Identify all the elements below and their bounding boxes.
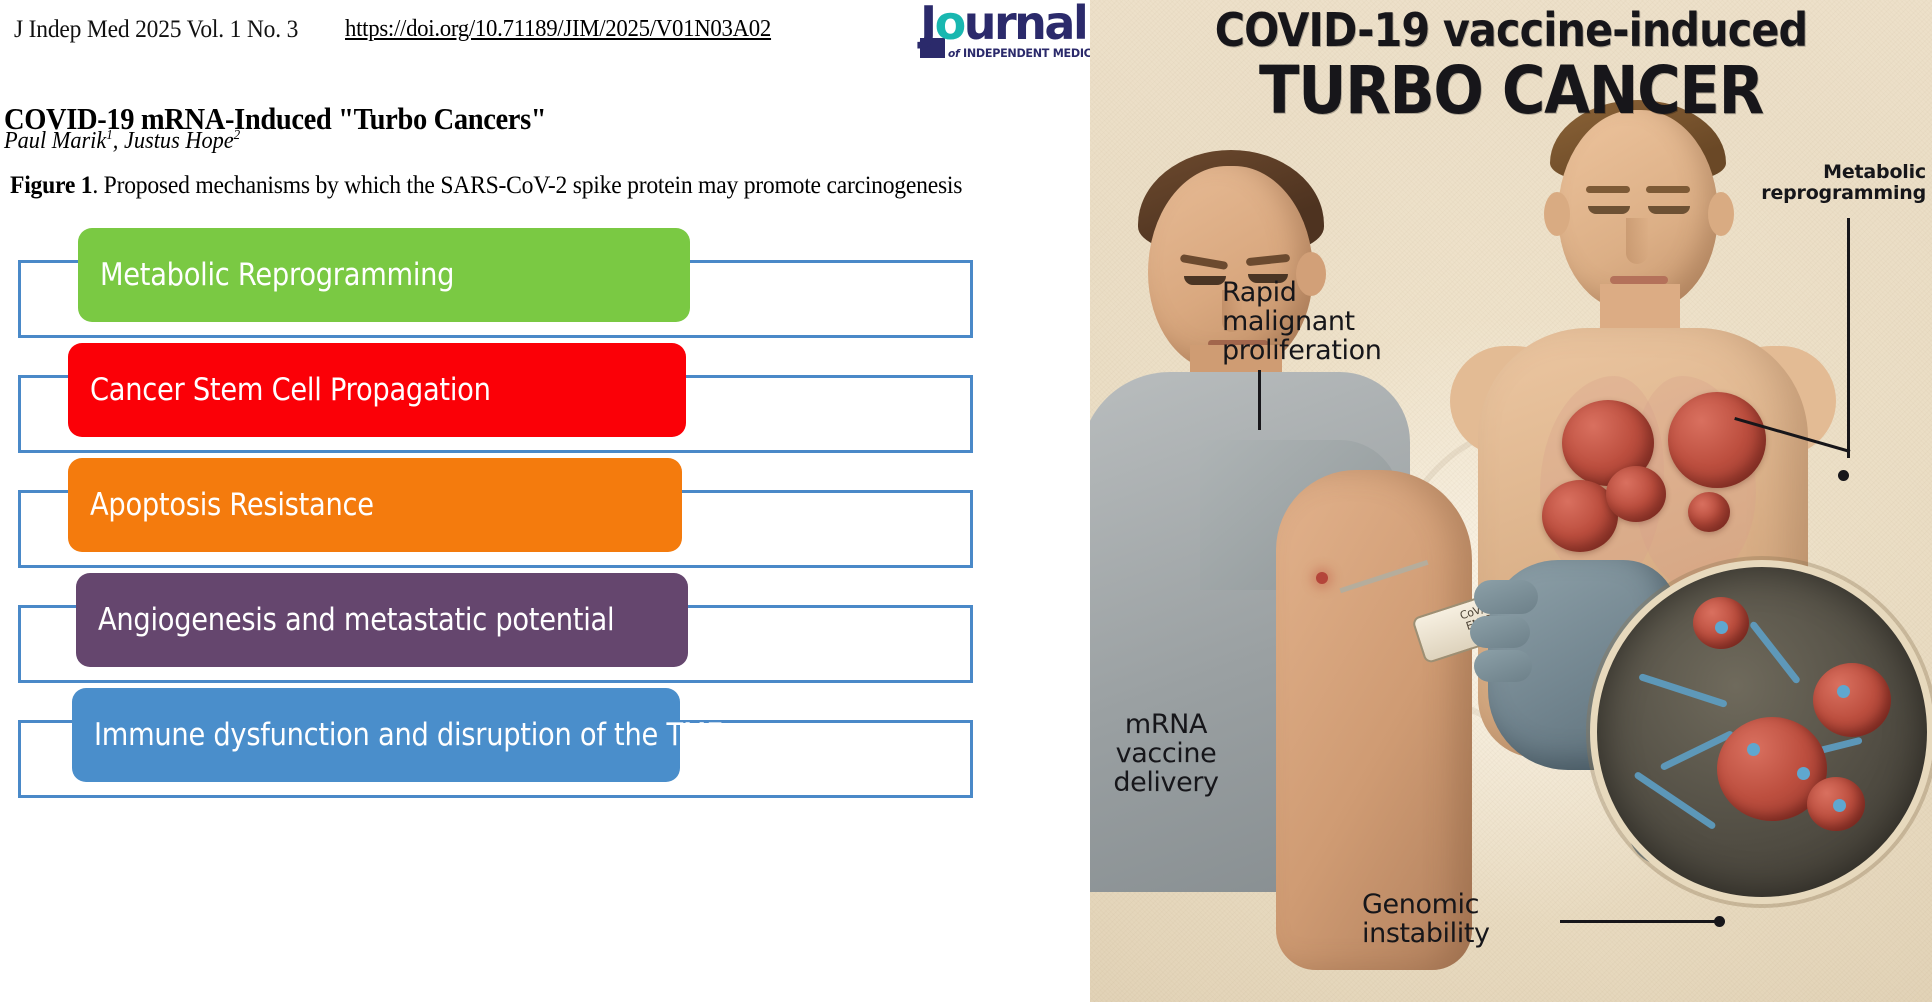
tumor-mass-2 [1668,392,1766,488]
illustration-patient-figure [1090,140,1510,1002]
mechanism-pill[interactable]: Cancer Stem Cell Propagation [68,343,686,437]
logo-letter-j: J [920,0,935,50]
patient-eye-left [1184,276,1226,285]
mechanism-row: Angiogenesis and metastatic potential [0,573,1090,685]
cell-receptor-dot-3 [1837,685,1850,698]
author-2-name: Justus Hope [124,128,234,154]
mechanism-pill[interactable]: Metabolic Reprogramming [78,228,690,322]
author-1-name: Paul Marik [4,128,106,154]
glove-finger-2 [1470,616,1530,648]
poster-title-line-1: COVID-19 vaccine-induced [1132,4,1890,56]
author-2-affiliation-marker: 2 [234,128,241,143]
cell-filament-3 [1749,620,1801,684]
leader-line-rapid-proliferation [1258,370,1261,430]
cell-receptor-dot-5 [1833,799,1846,812]
logo-letters-rest: urnal [964,0,1087,50]
microscopy-inset [1590,560,1932,904]
torso-figure-ear-left [1544,192,1570,236]
torso-figure-brow-left [1586,186,1630,193]
mechanism-label: Angiogenesis and metastatic potential [98,602,614,638]
mechanism-row: Immune dysfunction and disruption of the… [0,688,1090,800]
figure-caption: Figure 1. Proposed mechanisms by which t… [10,172,962,200]
cell-filament-5 [1633,771,1717,830]
leader-dot-genomic [1714,916,1725,927]
glove-finger-3 [1474,650,1532,682]
figure-caption-label: Figure 1 [10,172,92,199]
mechanism-row: Metabolic Reprogramming [0,228,1090,340]
annotation-genomic-line-1: Genomic [1362,890,1490,919]
annotation-metabolic-line-1: Metabolic [1761,162,1926,183]
mechanism-row: Apoptosis Resistance [0,458,1090,570]
doi-link[interactable]: https://doi.org/10.71189/JIM/2025/V01N03… [345,16,771,43]
torso-figure-brow-right [1646,186,1690,193]
annotation-metabolic-reprogramming: Metabolic reprogramming [1761,162,1926,203]
page-masthead: J Indep Med 2025 Vol. 1 No. 3 https://do… [0,0,1090,72]
poster-title: COVID-19 vaccine-induced TURBO CANCER [1090,4,1932,124]
annotation-mrna-line-2: vaccine [1091,739,1241,768]
leader-line-metabolic-vertical [1847,218,1850,458]
mechanism-label: Apoptosis Resistance [90,487,374,523]
logo-letter-o: o [935,0,964,50]
cell-receptor-dot-2 [1797,767,1810,780]
logo-subtitle-of: of [948,47,959,60]
annotation-rapid-line-2: malignant [1222,307,1381,336]
tumor-mass-5 [1606,466,1666,522]
screenshot-root: J Indep Med 2025 Vol. 1 No. 3 https://do… [0,0,1932,1002]
mechanism-label: Immune dysfunction and disruption of the… [94,717,723,753]
mechanisms-diagram: Metabolic ReprogrammingCancer Stem Cell … [0,228,1090,788]
annotation-rapid-line-1: Rapid [1222,278,1381,307]
annotation-genomic-line-2: instability [1362,919,1490,948]
mechanism-pill[interactable]: Apoptosis Resistance [68,458,682,552]
cell-filament-1 [1638,673,1728,708]
glove-finger-1 [1474,580,1538,614]
logo-subtitle-rest: INDEPENDENT MEDICINE [963,46,1090,60]
annotation-rapid-line-3: proliferation [1222,336,1381,365]
logo-subtitle: of INDEPENDENT MEDICINE™ [948,46,1090,60]
mechanism-label: Cancer Stem Cell Propagation [90,372,491,408]
annotation-rapid-malignant-proliferation: Rapid malignant proliferation [1222,278,1381,365]
annotation-mrna-line-3: delivery [1091,768,1241,797]
author-separator: , [113,128,124,154]
cell-receptor-dot-1 [1747,743,1760,756]
figure-caption-text: . Proposed mechanisms by which the SARS-… [92,172,962,199]
poster-illustration: COVID-19 vaccine-induced TURBO CANCER [1090,0,1932,1002]
journal-logo: Journal of INDEPENDENT MEDICINE™ [920,2,1090,64]
cell-receptor-dot-4 [1715,621,1728,634]
article-authors: Paul Marik1, Justus Hope2 [4,128,240,155]
annotation-mrna-line-1: mRNA [1091,710,1241,739]
torso-figure-nose [1626,218,1648,264]
torso-figure-mouth [1610,276,1668,284]
torso-figure-eye-right [1648,206,1690,214]
mechanism-pill[interactable]: Angiogenesis and metastatic potential [76,573,688,667]
journal-reference: J Indep Med 2025 Vol. 1 No. 3 [14,16,298,44]
mechanism-row: Cancer Stem Cell Propagation [0,343,1090,455]
injection-site-marker [1316,572,1328,584]
leader-line-genomic-instability [1560,920,1720,923]
torso-figure-ear-right [1708,192,1734,236]
annotation-mrna-vaccine-delivery: mRNA vaccine delivery [1091,710,1241,797]
mechanism-label: Metabolic Reprogramming [100,257,454,293]
logo-wordmark: Journal [920,0,1086,48]
annotation-metabolic-line-2: reprogramming [1761,183,1926,204]
annotation-genomic-instability: Genomic instability [1362,890,1490,948]
mechanism-pill[interactable]: Immune dysfunction and disruption of the… [72,688,680,782]
torso-figure-eye-left [1588,206,1630,214]
journal-article-page: J Indep Med 2025 Vol. 1 No. 3 https://do… [0,0,1090,1002]
leader-dot-metabolic [1838,470,1849,481]
poster-title-line-2: TURBO CANCER [1132,58,1890,124]
cancer-cell-2 [1813,663,1891,737]
tumor-mass-4 [1688,492,1730,532]
